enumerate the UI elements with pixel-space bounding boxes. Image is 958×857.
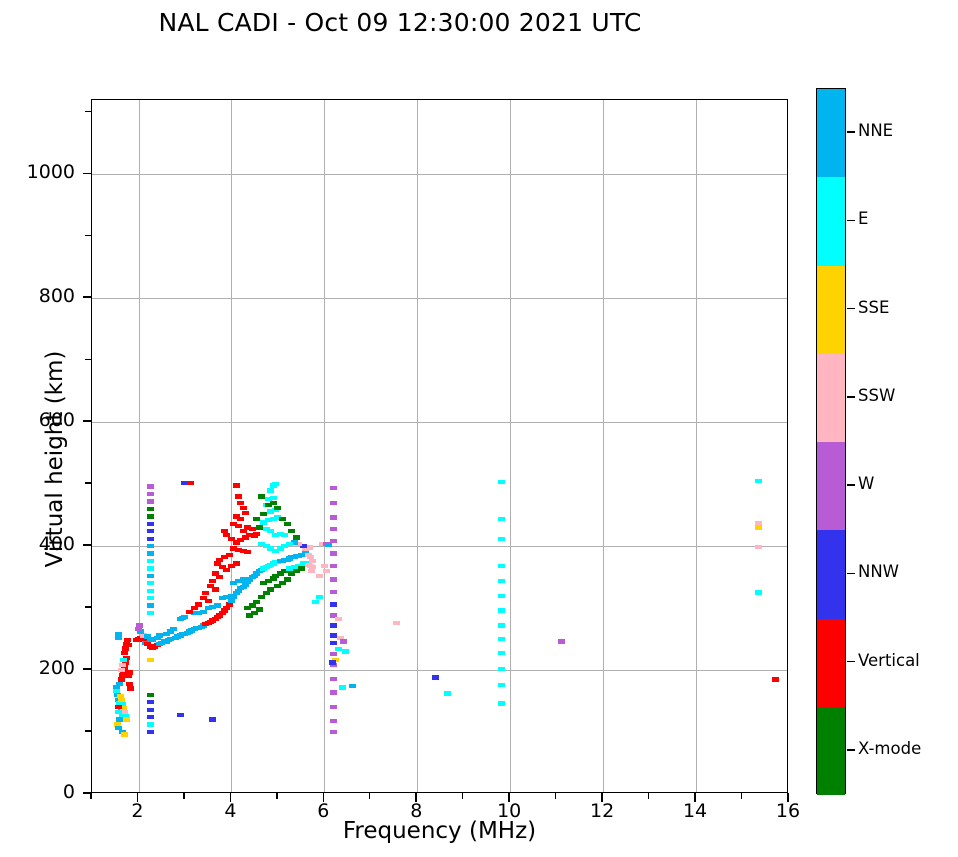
echo-point (187, 481, 194, 485)
echo-point (263, 527, 270, 531)
echo-point (330, 501, 337, 505)
echo-point (233, 561, 240, 565)
echo-point (342, 649, 349, 653)
colorbar-segment-vertical (817, 619, 845, 707)
echo-point (237, 501, 244, 505)
echo-point (147, 544, 154, 548)
colorbar-segment-nnw (817, 530, 845, 618)
echo-point (316, 595, 323, 599)
echo-point (330, 486, 337, 490)
echo-point (330, 623, 337, 627)
echo-point (772, 677, 779, 681)
echo-point (272, 482, 279, 486)
y-tick-800 (83, 296, 92, 298)
echo-point (147, 715, 154, 719)
echo-point (330, 641, 337, 645)
echo-point (233, 540, 240, 544)
echo-point (335, 647, 342, 651)
echo-point (147, 611, 154, 615)
echo-point (126, 670, 133, 674)
echo-point (147, 658, 154, 662)
echo-point (267, 488, 274, 492)
echo-point (223, 606, 230, 610)
x-minor-tick-1 (90, 793, 91, 799)
echo-point (323, 569, 330, 573)
echo-point (230, 595, 237, 599)
y-minor-tick-1100 (85, 111, 92, 112)
y-minor-tick-700 (85, 359, 92, 360)
echo-point (330, 564, 337, 568)
x-minor-tick-11 (555, 793, 556, 799)
echo-point (330, 690, 337, 694)
echo-point (209, 717, 216, 721)
echo-point (116, 682, 123, 686)
echo-point (205, 599, 212, 603)
echo-point (256, 525, 263, 529)
echo-point (147, 499, 154, 503)
y-tick-1000 (83, 173, 92, 175)
echo-point (147, 507, 154, 511)
echo-point (498, 701, 505, 705)
echo-point (242, 511, 249, 515)
echo-point (118, 677, 125, 681)
echo-point (329, 660, 336, 664)
colorbar-segment-x-mode (817, 707, 845, 795)
echo-point (339, 685, 346, 689)
echo-point (325, 543, 332, 547)
echo-point (498, 594, 505, 598)
colorbar-label-e: E (858, 209, 868, 228)
echo-point (115, 632, 122, 636)
echo-point (335, 617, 342, 621)
echo-point (253, 600, 260, 604)
echo-point (123, 717, 130, 721)
echo-point (147, 492, 154, 496)
echo-point (200, 610, 207, 614)
colorbar-label-nne: NNE (858, 121, 893, 140)
colorbar-tick-sse (847, 308, 855, 310)
echo-point (214, 603, 221, 607)
echo-point (498, 537, 505, 541)
echo-point (244, 550, 251, 554)
y-tick-200 (83, 668, 92, 670)
echo-point (147, 603, 154, 607)
echo-point (306, 545, 313, 549)
echo-point (393, 621, 400, 625)
colorbar-label-x-mode: X-mode (858, 739, 921, 758)
echo-point (124, 638, 131, 642)
echo-point (330, 677, 337, 681)
echo-point (115, 636, 122, 640)
x-minor-tick-9 (462, 793, 463, 799)
colorbar-tick-vertical (847, 661, 855, 663)
echo-point (127, 686, 134, 690)
colorbar-label-vertical: Vertical (858, 651, 920, 670)
echo-point (126, 682, 133, 686)
echo-point (330, 705, 337, 709)
echo-point (212, 587, 219, 591)
echo-point (147, 551, 154, 555)
colorbar-label-w: W (858, 474, 874, 493)
x-minor-tick-13 (648, 793, 649, 799)
echo-point (147, 708, 154, 712)
echo-point (147, 722, 154, 726)
echo-point (147, 529, 154, 533)
echo-point (755, 479, 762, 483)
echo-point (226, 602, 233, 606)
colorbar-label-nnw: NNW (858, 562, 899, 581)
echo-point (258, 542, 265, 546)
echo-point (258, 494, 265, 498)
x-minor-tick-3 (183, 793, 184, 799)
colorbar-label-sse: SSE (858, 298, 889, 317)
x-minor-tick-15 (741, 793, 742, 799)
y-minor-tick-300 (85, 606, 92, 607)
y-minor-tick-100 (85, 730, 92, 731)
echo-point (498, 651, 505, 655)
echo-point (498, 579, 505, 583)
echo-point (260, 512, 267, 516)
echo-point (312, 600, 319, 604)
echo-point (119, 663, 126, 667)
echo-point (125, 643, 132, 647)
echo-point (498, 637, 505, 641)
colorbar-label-ssw: SSW (858, 386, 895, 405)
y-minor-tick-900 (85, 235, 92, 236)
echo-point (170, 627, 177, 631)
echo-point (233, 514, 240, 518)
colorbar-tick-x-mode (847, 749, 855, 751)
data-points-layer (92, 100, 787, 792)
y-tick-label-1000: 1000 (5, 161, 75, 183)
echo-point (118, 668, 125, 672)
y-minor-tick-500 (85, 482, 92, 483)
echo-point (115, 705, 122, 709)
echo-point (147, 559, 154, 563)
colorbar-segment-ssw (817, 354, 845, 442)
echo-point (120, 658, 127, 662)
echo-point (121, 732, 128, 736)
echo-point (147, 693, 154, 697)
echo-point (498, 623, 505, 627)
x-minor-tick-7 (369, 793, 370, 799)
y-tick-label-200: 200 (5, 657, 75, 679)
echo-point (755, 590, 762, 594)
echo-point (181, 615, 188, 619)
echo-point (308, 569, 315, 573)
x-axis-label: Frequency (MHz) (91, 818, 788, 844)
echo-point (147, 700, 154, 704)
colorbar-tick-ssw (847, 396, 855, 398)
echo-point (330, 652, 337, 656)
echo-point (330, 719, 337, 723)
echo-point (209, 579, 216, 583)
echo-point (755, 525, 762, 529)
echo-point (240, 529, 247, 533)
echo-point (432, 675, 439, 679)
echo-point (498, 608, 505, 612)
echo-point (263, 591, 270, 595)
echo-point (279, 517, 286, 521)
x-minor-tick-5 (276, 793, 277, 799)
echo-point (330, 602, 337, 606)
echo-point (115, 710, 122, 714)
echo-point (147, 566, 154, 570)
echo-point (228, 537, 235, 541)
colorbar-tick-nne (847, 131, 855, 133)
echo-point (284, 522, 291, 526)
colorbar-tick-nnw (847, 573, 855, 575)
echo-point (253, 532, 260, 536)
echo-point (253, 517, 260, 521)
echo-point (125, 674, 132, 678)
echo-point (147, 589, 154, 593)
echo-point (251, 611, 258, 615)
echo-point (330, 590, 337, 594)
echo-point (221, 529, 228, 533)
echo-point (267, 587, 274, 591)
echo-point (444, 691, 451, 695)
echo-point (498, 517, 505, 521)
echo-point (330, 730, 337, 734)
echo-point (233, 483, 240, 487)
echo-point (228, 599, 235, 603)
echo-point (147, 522, 154, 526)
echo-point (249, 527, 256, 531)
echo-point (293, 535, 300, 539)
echo-point (279, 581, 286, 585)
colorbar-segment-nne (817, 89, 845, 177)
echo-point (330, 515, 337, 519)
echo-point (316, 574, 323, 578)
echo-point (330, 551, 337, 555)
echo-point (135, 627, 142, 631)
echo-point (147, 484, 154, 488)
echo-point (498, 564, 505, 568)
echo-point (216, 575, 223, 579)
echo-point (558, 639, 565, 643)
echo-point (498, 683, 505, 687)
echo-point (256, 607, 263, 611)
echo-point (330, 527, 337, 531)
echo-point (186, 610, 193, 614)
echo-point (202, 591, 209, 595)
plot-area (91, 99, 788, 793)
echo-point (274, 506, 281, 510)
echo-point (340, 639, 347, 643)
echo-point (298, 566, 305, 570)
echo-point (330, 633, 337, 637)
y-tick-label-0: 0 (5, 781, 75, 803)
colorbar-segment-e (817, 177, 845, 265)
echo-point (235, 524, 242, 528)
colorbar (816, 88, 846, 794)
echo-point (240, 506, 247, 510)
echo-point (258, 595, 265, 599)
colorbar-segment-w (817, 442, 845, 530)
figure-title: NAL CADI - Oct 09 12:30:00 2021 UTC (0, 8, 800, 37)
echo-point (223, 568, 230, 572)
echo-point (330, 577, 337, 581)
echo-point (156, 633, 163, 637)
echo-point (177, 713, 184, 717)
echo-point (270, 496, 277, 500)
echo-point (147, 574, 154, 578)
echo-point (147, 730, 154, 734)
echo-point (147, 514, 154, 518)
echo-point (147, 581, 154, 585)
echo-point (249, 603, 256, 607)
colorbar-segment-sse (817, 266, 845, 354)
colorbar-tick-e (847, 220, 855, 222)
echo-point (321, 564, 328, 568)
echo-point (755, 545, 762, 549)
y-tick-600 (83, 420, 92, 422)
echo-point (136, 623, 143, 627)
echo-point (288, 529, 295, 533)
echo-point (498, 667, 505, 671)
echo-point (284, 577, 291, 581)
echo-point (147, 537, 154, 541)
echo-point (498, 480, 505, 484)
echo-point (270, 501, 277, 505)
echo-point (349, 684, 356, 688)
echo-point (235, 494, 242, 498)
y-tick-400 (83, 544, 92, 546)
echo-point (223, 533, 230, 537)
echo-point (121, 651, 128, 655)
colorbar-tick-w (847, 484, 855, 486)
y-axis-label: Virtual height (km) (42, 299, 68, 619)
echo-point (147, 596, 154, 600)
ionogram-figure: NAL CADI - Oct 09 12:30:00 2021 UTC 0200… (0, 0, 958, 857)
echo-point (281, 533, 288, 537)
